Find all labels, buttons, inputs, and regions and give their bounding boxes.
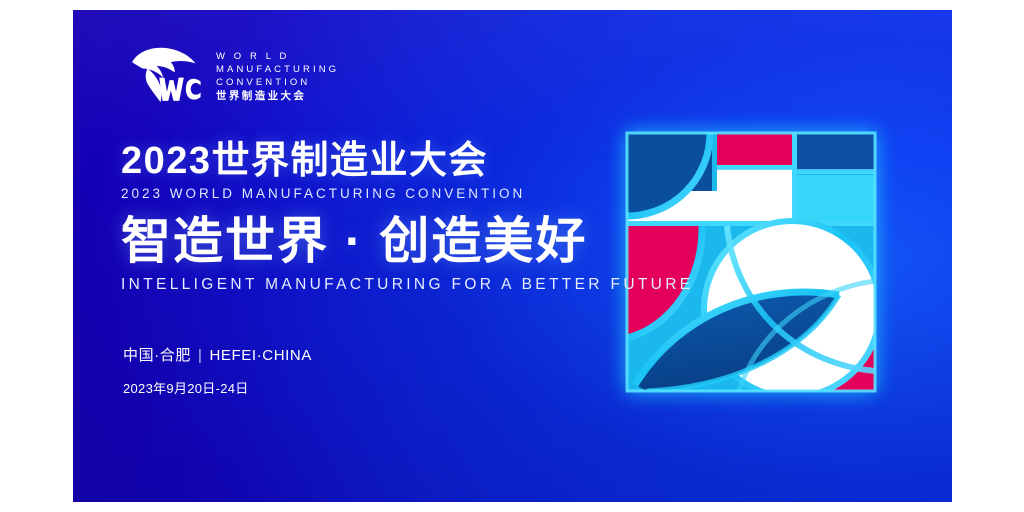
wordmark-chinese: 世界制造业大会 <box>216 91 339 102</box>
wordmark-convention: CONVENTION <box>216 78 339 88</box>
venue-city-english: HEFEI·CHINA <box>210 347 312 364</box>
wmc-eagle-mark-icon <box>128 44 206 106</box>
wordmark-manufacturing: MANUFACTURING <box>216 65 339 75</box>
wordmark-world: W O R L D <box>216 52 339 62</box>
venue-block: 中国·合肥|HEFEI·CHINA 2023年9月20日-24日 <box>123 348 312 395</box>
conference-poster: W O R L D MANUFACTURING CONVENTION 世界制造业… <box>73 10 952 502</box>
venue-city-chinese: 中国·合肥 <box>123 347 191 364</box>
slogan-english: INTELLIGENT MANUFACTURING FOR A BETTER F… <box>121 277 693 293</box>
slogan-chinese: 智造世界 · 创造美好 <box>121 215 693 268</box>
page-title-chinese: 2023世界制造业大会 <box>121 142 525 180</box>
slogan-block: 智造世界 · 创造美好 INTELLIGENT MANUFACTURING FO… <box>121 215 693 292</box>
wmc-wordmark: W O R L D MANUFACTURING CONVENTION 世界制造业… <box>216 48 339 102</box>
headline-block: 2023世界制造业大会 2023 WORLD MANUFACTURING CON… <box>121 142 525 201</box>
event-dates: 2023年9月20日-24日 <box>123 382 312 395</box>
wmc-logo-lockup[interactable]: W O R L D MANUFACTURING CONVENTION 世界制造业… <box>128 44 339 106</box>
venue-location: 中国·合肥|HEFEI·CHINA <box>123 348 312 363</box>
venue-separator: | <box>191 348 210 363</box>
page-title-english: 2023 WORLD MANUFACTURING CONVENTION <box>121 187 525 201</box>
